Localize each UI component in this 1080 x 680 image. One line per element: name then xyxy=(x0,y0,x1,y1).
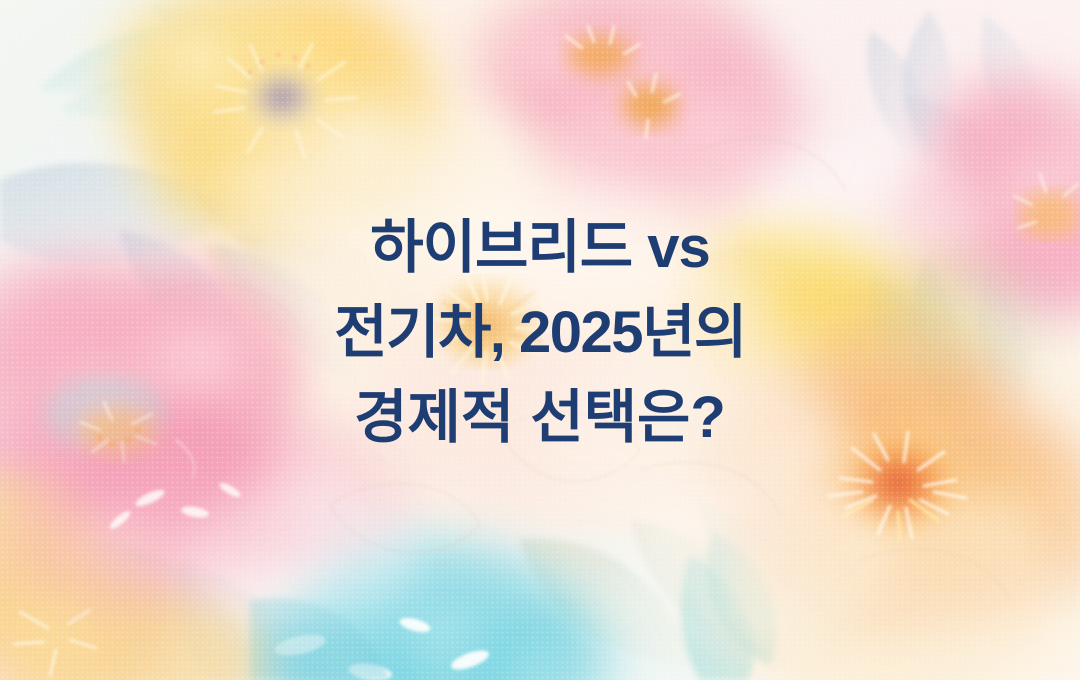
thumbnail-canvas: 하이브리드 vs 전기차, 2025년의 경제적 선택은? xyxy=(0,0,1080,680)
paper-grain xyxy=(0,0,1080,680)
